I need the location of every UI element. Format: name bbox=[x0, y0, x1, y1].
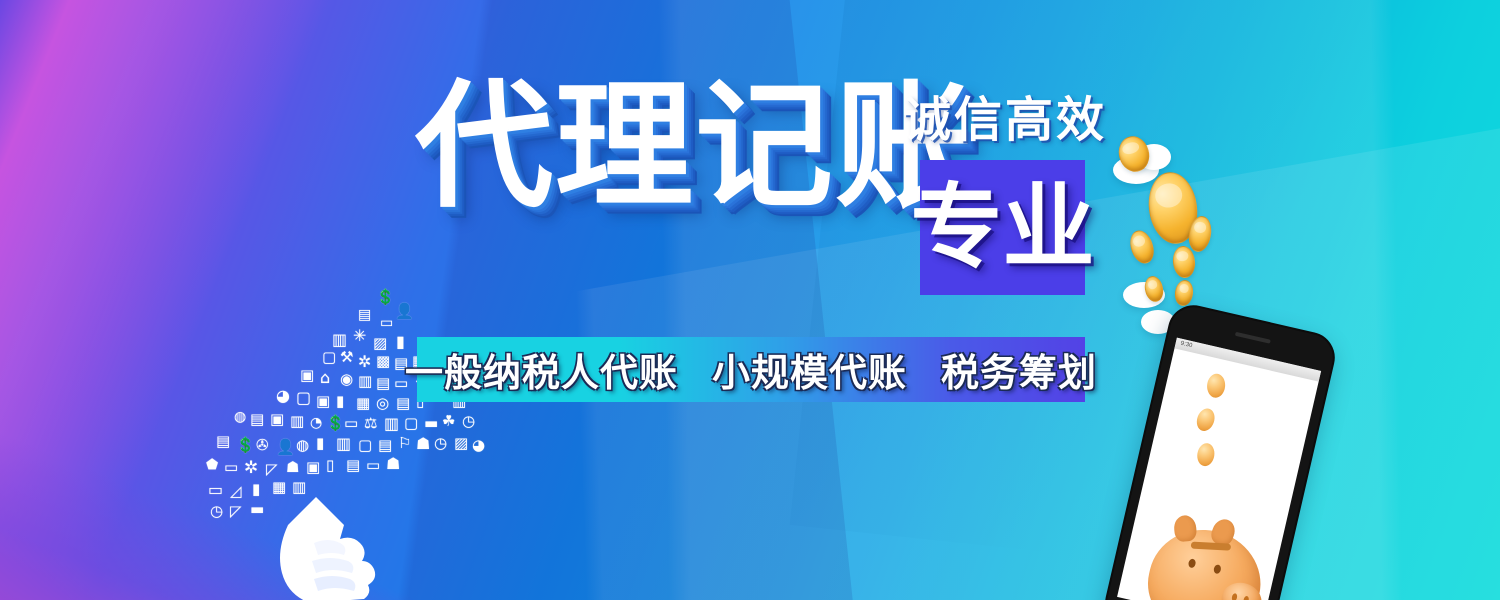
coin-icon bbox=[1194, 406, 1218, 433]
trend-up-icon: ▨ bbox=[373, 336, 387, 351]
coin-icon bbox=[1126, 227, 1157, 266]
phone-speaker bbox=[1235, 332, 1271, 344]
clock-icon: ◷ bbox=[434, 436, 447, 451]
gear-icon: ✲ bbox=[244, 460, 258, 477]
hammer-icon: ⚒ bbox=[340, 350, 353, 365]
house-icon: ⌂ bbox=[320, 370, 330, 386]
pie-chart-icon: ◕ bbox=[276, 388, 290, 404]
piggy-snout bbox=[1218, 579, 1265, 600]
briefcase-icon: ▭ bbox=[380, 316, 393, 330]
document-icon: ▤ bbox=[346, 458, 360, 473]
bar-chart-icon: ▮ bbox=[316, 436, 324, 451]
piggy-coin-slot bbox=[1191, 542, 1231, 551]
page-title: 代理记账 bbox=[415, 78, 975, 216]
shield-icon: ⬟ bbox=[206, 458, 218, 472]
coin-icon bbox=[1173, 279, 1194, 307]
coin-icon bbox=[1196, 442, 1216, 467]
graph-line-icon: ▨ bbox=[454, 436, 468, 451]
service-item-general-taxpayer: 一般纳税人代账 bbox=[405, 342, 678, 397]
target-icon: ◉ bbox=[340, 372, 353, 387]
bar-chart-icon: ▮ bbox=[396, 334, 405, 350]
graph-line-icon: ▩ bbox=[376, 354, 390, 369]
gear-icon: ✳ bbox=[353, 328, 366, 344]
chart-bar-icon: ▤ bbox=[216, 434, 230, 449]
dollar-icon: 💲 bbox=[376, 290, 395, 305]
safe-icon: ▦ bbox=[356, 396, 370, 411]
bank-icon: ▥ bbox=[384, 416, 399, 432]
clock-icon: ◷ bbox=[210, 504, 223, 519]
megaphone-icon: 💲 👤 ▤ ▭ ✳ ▥ ▨ ▮ ▢ ⚒ ✲ ▩ ▤ ▦ ▣ ⌂ ◉ ▥ ▤ ▭ … bbox=[180, 288, 480, 600]
person-icon: ☗ bbox=[416, 436, 430, 452]
document-icon: ▤ bbox=[396, 396, 410, 411]
chart-bar-icon: ▤ bbox=[358, 308, 371, 322]
printer-icon: ▤ bbox=[378, 438, 392, 453]
user-icon: 👤 bbox=[395, 304, 414, 319]
coin-icon bbox=[1206, 373, 1226, 398]
briefcase-icon: ▭ bbox=[208, 482, 223, 498]
credit-card-icon: ▬ bbox=[424, 416, 438, 431]
battery-icon: ▭ bbox=[224, 460, 238, 475]
monitor-icon: ▢ bbox=[358, 438, 372, 453]
slogan-text: 诚信高效 bbox=[903, 80, 1107, 150]
service-item-small-scale: 小规模代账 bbox=[712, 342, 907, 397]
gear-icon: ✲ bbox=[358, 354, 371, 370]
calendar-icon: ▣ bbox=[300, 368, 314, 383]
bar-chart-icon: ▮ bbox=[336, 394, 344, 409]
stamp-icon: ▥ bbox=[358, 374, 372, 389]
dollar-icon: 💲 bbox=[326, 416, 345, 431]
bag-icon: ▭ bbox=[344, 416, 358, 431]
search-icon: ◎ bbox=[376, 396, 389, 411]
phone-status-bar: 9:30 bbox=[1174, 338, 1321, 382]
monitor-icon: ▢ bbox=[322, 350, 336, 365]
bank-icon: ▥ bbox=[336, 436, 351, 452]
piggy-bank-icon bbox=[1138, 519, 1271, 600]
dollar-icon: 💲 bbox=[236, 438, 255, 453]
clock-icon: ◷ bbox=[462, 414, 475, 429]
hand-icon bbox=[270, 473, 400, 600]
scale-icon: ⚖ bbox=[364, 416, 377, 431]
lightbulb-icon: ◍ bbox=[234, 410, 246, 424]
flag-icon: ⚐ bbox=[398, 436, 411, 451]
monitor-icon: ▢ bbox=[404, 416, 418, 431]
service-item-tax-planning: 税务筹划 bbox=[941, 342, 1097, 397]
handshake-icon: ✇ bbox=[256, 438, 269, 453]
piggy-ear bbox=[1173, 515, 1197, 543]
calculator-icon: ▥ bbox=[290, 414, 304, 429]
trend-up-icon: ◸ bbox=[230, 504, 242, 519]
service-list-bar: 一般纳税人代账 小规模代账 税务筹划 bbox=[417, 337, 1085, 402]
promo-banner: 💲 👤 ▤ ▭ ✳ ▥ ▨ ▮ ▢ ⚒ ✲ ▩ ▤ ▦ ▣ ⌂ ◉ ▥ ▤ ▭ … bbox=[0, 0, 1500, 600]
piggy-eye bbox=[1188, 558, 1197, 568]
folder-icon: ▭ bbox=[366, 458, 380, 473]
camera-icon: ▣ bbox=[316, 394, 330, 409]
badge-label: 专业 bbox=[911, 182, 1095, 274]
phone-icon: ▯ bbox=[326, 458, 334, 473]
phone-coins-illustration: 9:30 bbox=[1095, 120, 1435, 600]
mail-icon: ◍ bbox=[296, 438, 309, 453]
bar-chart-icon: ▮ bbox=[252, 482, 260, 497]
user-group-icon: ☘ bbox=[442, 414, 455, 429]
smartphone-icon: 9:30 bbox=[1100, 300, 1340, 600]
graph-line-icon: ◿ bbox=[230, 484, 242, 499]
monitor-icon: ▢ bbox=[296, 390, 311, 406]
receipt-icon: ▤ bbox=[376, 376, 390, 391]
pie-chart-icon: ◕ bbox=[472, 438, 485, 453]
person-run-icon: ☗ bbox=[386, 456, 400, 472]
user-icon: 👤 bbox=[276, 440, 295, 455]
piggy-eye bbox=[1213, 564, 1222, 574]
key-icon: ◔ bbox=[310, 416, 322, 430]
chart-bar-icon: ▤ bbox=[250, 412, 264, 427]
document-icon: ▣ bbox=[270, 412, 284, 427]
status-badge: 专业 bbox=[920, 160, 1085, 295]
ruler-icon: ▬ bbox=[250, 502, 264, 517]
bank-icon: ▥ bbox=[332, 332, 347, 348]
phone-screen: 9:30 bbox=[1117, 338, 1321, 600]
